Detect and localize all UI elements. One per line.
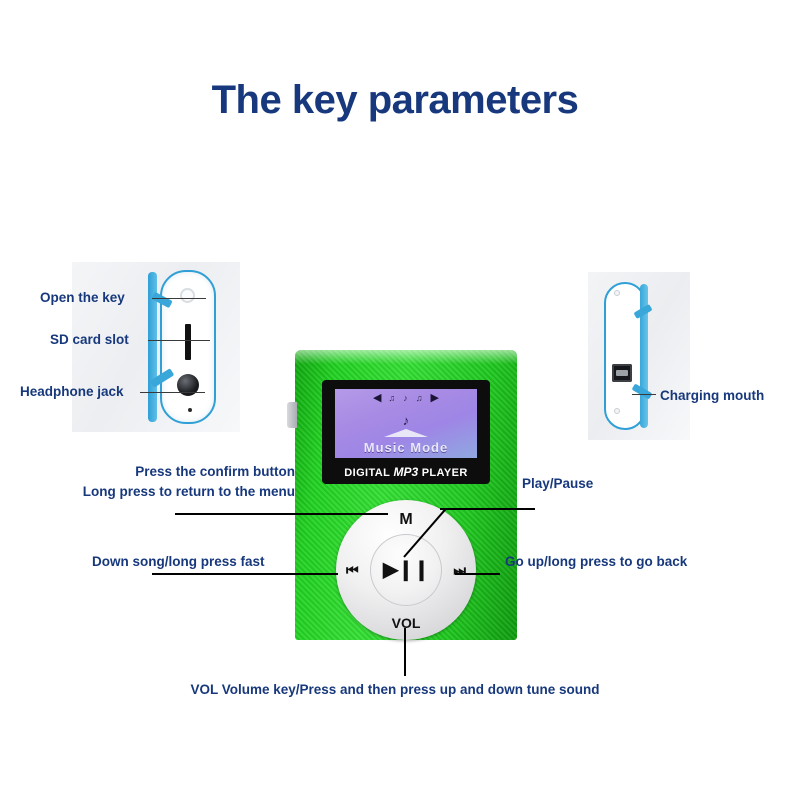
- music-glyph-icon-3: ♫: [416, 394, 424, 403]
- sd-card-slot-icon: [185, 324, 191, 360]
- pedestal-shape: [384, 429, 428, 437]
- side-button[interactable]: [287, 402, 297, 428]
- music-glyph-icon-2: ♪: [403, 394, 409, 403]
- label-volume: VOL Volume key/Press and then press up a…: [0, 680, 790, 700]
- lcd-screen: ◀ ♫ ♪ ♫ ▶ ♪ Music Mode: [335, 389, 477, 458]
- play-pause-icon[interactable]: ▶❙❙: [383, 560, 429, 580]
- label-go-up: Go up/long press to go back: [505, 552, 687, 572]
- screw-top-icon: [614, 290, 620, 296]
- reset-pinhole-icon: [188, 408, 192, 412]
- label-headphone-jack: Headphone jack: [20, 382, 124, 402]
- screw-bottom-icon: [614, 408, 620, 414]
- leader-sd-card-slot: [148, 340, 210, 341]
- page-title: The key parameters: [0, 78, 790, 123]
- leader-charging-mouth: [632, 394, 656, 395]
- mp3-player-device: ◀ ♫ ♪ ♫ ▶ ♪ Music Mode DIGITAL MP3 PLAYE…: [295, 350, 517, 640]
- leader-go-up: [455, 573, 500, 575]
- open-key-icon: [180, 288, 195, 303]
- brand-text: DIGITAL MP3 PLAYER: [322, 465, 490, 479]
- lcd-mode-text: Music Mode: [335, 440, 477, 455]
- brand-prefix: DIGITAL: [344, 467, 393, 479]
- center-button[interactable]: ▶❙❙: [370, 534, 442, 606]
- label-open-the-key: Open the key: [40, 288, 125, 308]
- leader-confirm-button: [175, 513, 388, 515]
- label-confirm-line1: Press the confirm button: [60, 462, 295, 482]
- right-side-view-photo: [588, 272, 690, 440]
- leader-volume: [404, 628, 406, 676]
- volume-button[interactable]: VOL: [392, 616, 421, 630]
- leader-open-the-key: [152, 298, 206, 299]
- diagram-canvas: The key parameters Open the key SD card …: [0, 0, 790, 790]
- leader-headphone-jack: [140, 392, 205, 393]
- previous-track-icon[interactable]: ⏮: [346, 563, 359, 577]
- leader-play-pause: [440, 508, 535, 510]
- label-charging-mouth: Charging mouth: [660, 386, 764, 406]
- label-confirm-button: Press the confirm button Long press to r…: [60, 462, 295, 503]
- charging-port-icon: [612, 364, 632, 382]
- label-sd-card-slot: SD card slot: [50, 330, 129, 350]
- next-arrow-icon: ▶: [431, 393, 439, 404]
- lcd-icon-row: ◀ ♫ ♪ ♫ ▶: [335, 393, 477, 404]
- leader-down-song: [152, 573, 338, 575]
- prev-arrow-icon: ◀: [373, 393, 381, 404]
- brand-suffix: PLAYER: [418, 467, 467, 479]
- brand-mp3: MP3: [394, 465, 419, 479]
- menu-button[interactable]: M: [399, 512, 412, 528]
- label-confirm-line2: Long press to return to the menu: [60, 482, 295, 502]
- control-wheel[interactable]: M VOL ⏮ ⏭ ▶❙❙: [336, 500, 476, 640]
- label-down-song: Down song/long press fast: [92, 552, 265, 572]
- music-glyph-icon-1: ♫: [389, 394, 397, 403]
- music-note-icon: ♪: [335, 413, 477, 428]
- screen-bezel: ◀ ♫ ♪ ♫ ▶ ♪ Music Mode DIGITAL MP3 PLAYE…: [322, 380, 490, 484]
- label-play-pause: Play/Pause: [522, 474, 593, 494]
